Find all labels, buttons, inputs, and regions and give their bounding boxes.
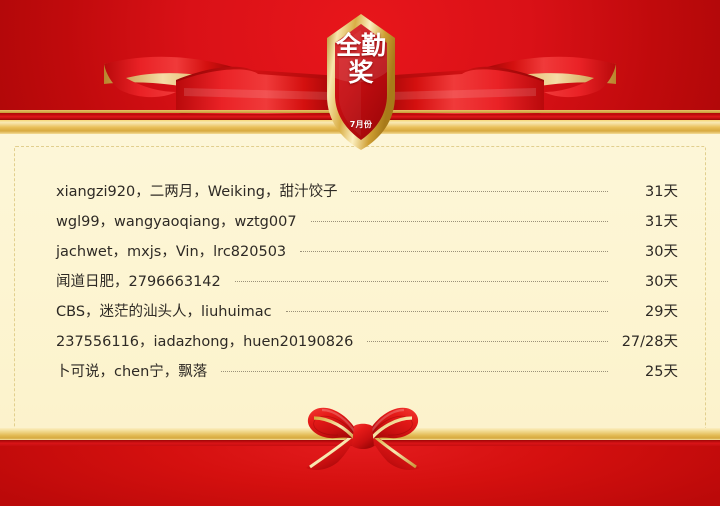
winner-days: 29天 (622, 300, 678, 321)
list-item: 237556116，iadazhong，huen20190826 27/28天 (56, 330, 678, 360)
winner-names: 闻道日肥，2796663142 (56, 270, 221, 291)
list-item: 卜可说，chen宁，飘落 25天 (56, 360, 678, 390)
leader-dots (351, 190, 608, 192)
list-item: 闻道日肥，2796663142 30天 (56, 270, 678, 300)
winner-names: wgl99，wangyaoqiang，wztg007 (56, 210, 297, 231)
list-item: jachwet，mxjs，Vin，lrc820503 30天 (56, 240, 678, 270)
winner-days: 30天 (622, 240, 678, 261)
list-item: wgl99，wangyaoqiang，wztg007 31天 (56, 210, 678, 240)
winner-days: 30天 (622, 270, 678, 291)
list-item: xiangzi920，二两月，Weiking，甜汁饺子 31天 (56, 180, 678, 210)
winner-names: xiangzi920，二两月，Weiking，甜汁饺子 (56, 180, 337, 201)
leader-dots (221, 370, 608, 372)
winner-names: 卜可说，chen宁，飘落 (56, 360, 207, 381)
winner-days: 31天 (622, 180, 678, 201)
winner-names: CBS，迷茫的汕头人，liuhuimac (56, 300, 272, 321)
leader-dots (286, 310, 608, 312)
winner-days: 31天 (622, 210, 678, 231)
winner-days: 25天 (622, 360, 678, 381)
winners-list: xiangzi920，二两月，Weiking，甜汁饺子 31天 wgl99，wa… (56, 180, 678, 390)
winner-names: 237556116，iadazhong，huen20190826 (56, 330, 353, 351)
winner-names: jachwet，mxjs，Vin，lrc820503 (56, 240, 286, 261)
shield-badge-icon: 全勤奖 7月份 (325, 12, 397, 152)
winner-days: 27/28天 (622, 330, 678, 351)
list-item: CBS，迷茫的汕头人，liuhuimac 29天 (56, 300, 678, 330)
leader-dots (235, 280, 608, 282)
leader-dots (367, 340, 607, 342)
attendance-award-poster: 全勤奖 7月份 xiangzi920，二两月，Weiking，甜汁饺子 31天 … (0, 0, 720, 506)
leader-dots (300, 250, 608, 252)
bow-icon (288, 396, 438, 484)
badge-subtitle: 7月份 (325, 119, 397, 130)
leader-dots (311, 220, 608, 222)
badge-title: 全勤奖 (325, 32, 397, 86)
